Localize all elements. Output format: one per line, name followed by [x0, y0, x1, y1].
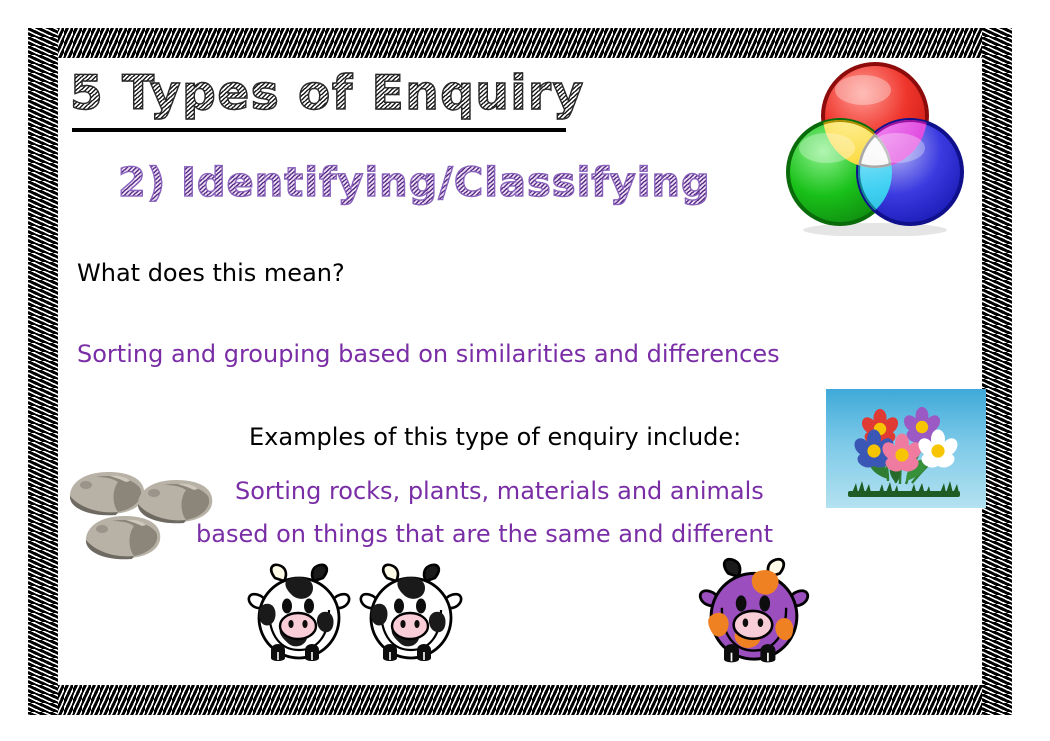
slide-title: 5 Types of Enquiry [70, 66, 585, 121]
cow-illustration-purple [694, 552, 814, 672]
frame-border-left [28, 28, 58, 715]
venn-diagram-icon [775, 58, 975, 236]
slide-canvas: 5 Types of Enquiry 2) Identifying/Classi… [0, 0, 1050, 741]
definition-text: Sorting and grouping based on similariti… [77, 340, 780, 368]
cow-illustration-bw-1 [243, 558, 355, 670]
flowers-image [826, 389, 986, 508]
slide-subtitle: 2) Identifying/Classifying [118, 160, 711, 206]
frame-border-top [28, 28, 1012, 58]
frame-border-bottom [28, 685, 1012, 715]
examples-heading: Examples of this type of enquiry include… [249, 423, 741, 451]
frame-border-right [982, 28, 1012, 715]
rocks-image [64, 462, 224, 564]
cow-illustration-bw-2 [355, 558, 467, 670]
example-line-2: based on things that are the same and di… [196, 520, 773, 548]
question-text: What does this mean? [77, 259, 345, 287]
title-underline [72, 128, 566, 132]
example-line-1: Sorting rocks, plants, materials and ani… [235, 477, 764, 505]
